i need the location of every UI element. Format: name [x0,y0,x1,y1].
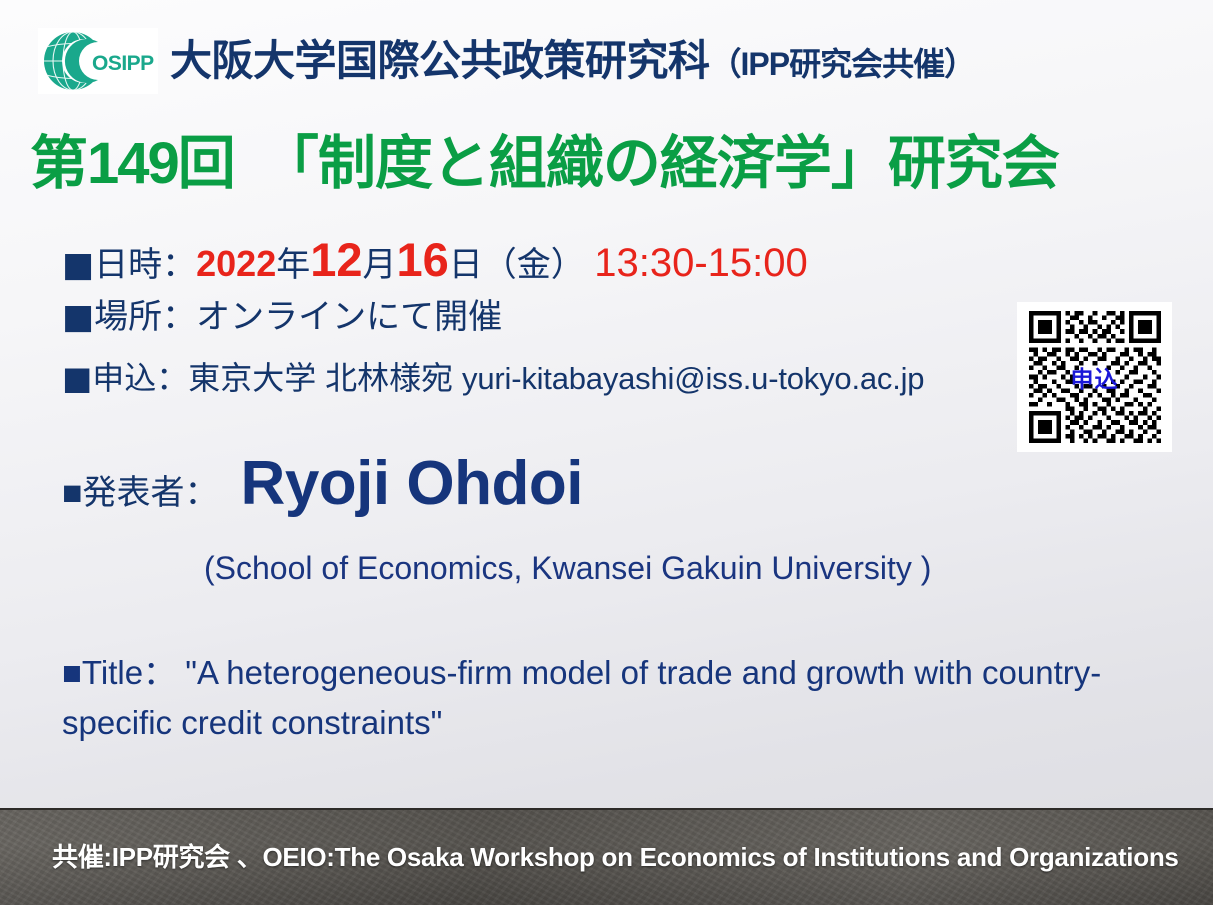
osipp-logo-icon: OSIPP [40,30,156,92]
seminar-title-text: 「制度と組織の経済学」研究会 [261,131,1059,196]
apply-line: ■申込：東京大学 北林様宛 yuri-kitabayashi@iss.u-tok… [62,362,924,394]
datetime-day: 16 [397,233,449,286]
datetime-time: 13:30-15:00 [594,241,808,285]
place-line: ■場所：オンラインにて開催 [62,300,502,334]
speaker-name: Ryoji Ohdoi [241,448,583,519]
qr-code-matrix: 申込 [1029,311,1161,443]
header-title-main: 大阪大学国際公共政策研究科 [170,37,710,84]
datetime-month: 12 [310,233,362,286]
footer-bar: 共催:IPP研究会 、OEIO:The Osaka Workshop on Ec… [0,808,1213,905]
talk-title-label: ■Title： [62,654,176,691]
talk-title-text: "A heterogeneous-firm model of trade and… [62,654,1101,741]
qr-code[interactable]: 申込 [1017,302,1172,452]
header-title-paren: （IPP研究会共催） [710,46,976,82]
apply-contact: 東京大学 北林様宛 [188,360,462,396]
place-value: オンラインにて開催 [196,298,502,336]
osipp-logo: OSIPP [38,28,158,94]
footer-text: 共催:IPP研究会 、OEIO:The Osaka Workshop on Ec… [52,837,1179,874]
place-label: 場所： [94,298,196,336]
apply-label: 申込： [92,360,188,396]
datetime-label: 日時： [94,246,196,284]
seminar-poster: OSIPP 大阪大学国際公共政策研究科（IPP研究会共催） 第149回「制度と組… [0,0,1213,905]
bullet-icon: ■ [62,245,94,285]
datetime-line: ■日時：2022年12月16日（金） 13:30-15:00 [62,236,808,283]
speaker-affiliation: (School of Economics, Kwansei Gakuin Uni… [204,550,931,587]
datetime-year-unit: 年 [276,246,310,284]
header: OSIPP 大阪大学国際公共政策研究科（IPP研究会共催） [38,28,975,94]
header-title: 大阪大学国際公共政策研究科（IPP研究会共催） [170,40,975,82]
speaker-row: ■発表者： Ryoji Ohdoi [62,448,583,519]
speaker-label: ■発表者： [62,465,219,514]
seminar-number-prefix: 第 [30,131,87,196]
page-title: 第149回「制度と組織の経済学」研究会 [30,134,1059,195]
seminar-number-suffix: 回 [178,131,235,196]
bullet-icon: ■ [62,297,94,337]
datetime-year: 2022 [196,243,276,284]
talk-title-block: ■Title： "A heterogeneous-firm model of t… [62,648,1172,747]
qr-label: 申込 [1029,360,1161,394]
bullet-icon: ■ [62,359,92,397]
svg-text:OSIPP: OSIPP [92,52,154,75]
datetime-month-unit: 月 [363,246,397,284]
datetime-day-unit: 日 [449,246,483,284]
apply-email[interactable]: yuri-kitabayashi@iss.u-tokyo.ac.jp [462,361,924,396]
datetime-weekday: （金） [483,246,585,284]
seminar-number: 149 [87,131,178,196]
